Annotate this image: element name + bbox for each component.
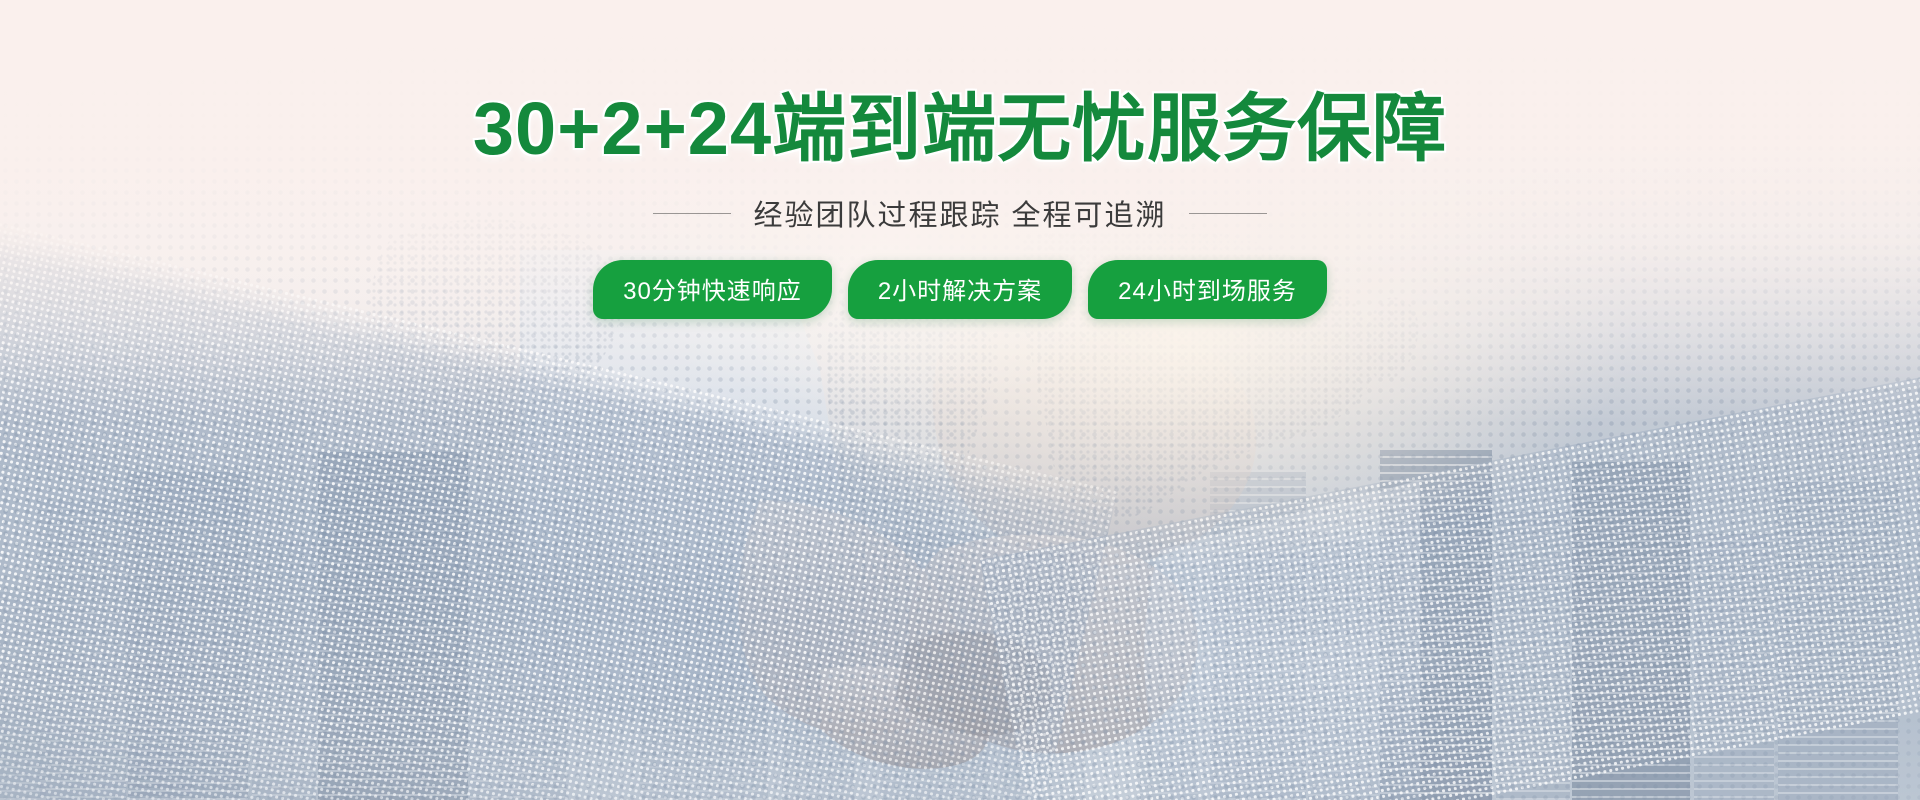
dash-line-left [653,213,731,214]
hero-headline: 30+2+24端到端无忧服务保障 [0,92,1920,166]
dash-line-right [1189,213,1267,214]
service-pill-response-time[interactable]: 30分钟快速响应 [593,260,832,319]
service-pill-onsite-time[interactable]: 24小时到场服务 [1088,260,1327,319]
service-pill-solution-time[interactable]: 2小时解决方案 [848,260,1072,319]
hero-content: 30+2+24端到端无忧服务保障 经验团队过程跟踪 全程可追溯 30分钟快速响应… [0,0,1920,319]
hero-banner: 30+2+24端到端无忧服务保障 经验团队过程跟踪 全程可追溯 30分钟快速响应… [0,0,1920,800]
service-pill-group: 30分钟快速响应 2小时解决方案 24小时到场服务 [0,260,1920,319]
hero-subtitle: 经验团队过程跟踪 全程可追溯 [753,192,1166,234]
hero-subtitle-row: 经验团队过程跟踪 全程可追溯 [0,192,1920,234]
